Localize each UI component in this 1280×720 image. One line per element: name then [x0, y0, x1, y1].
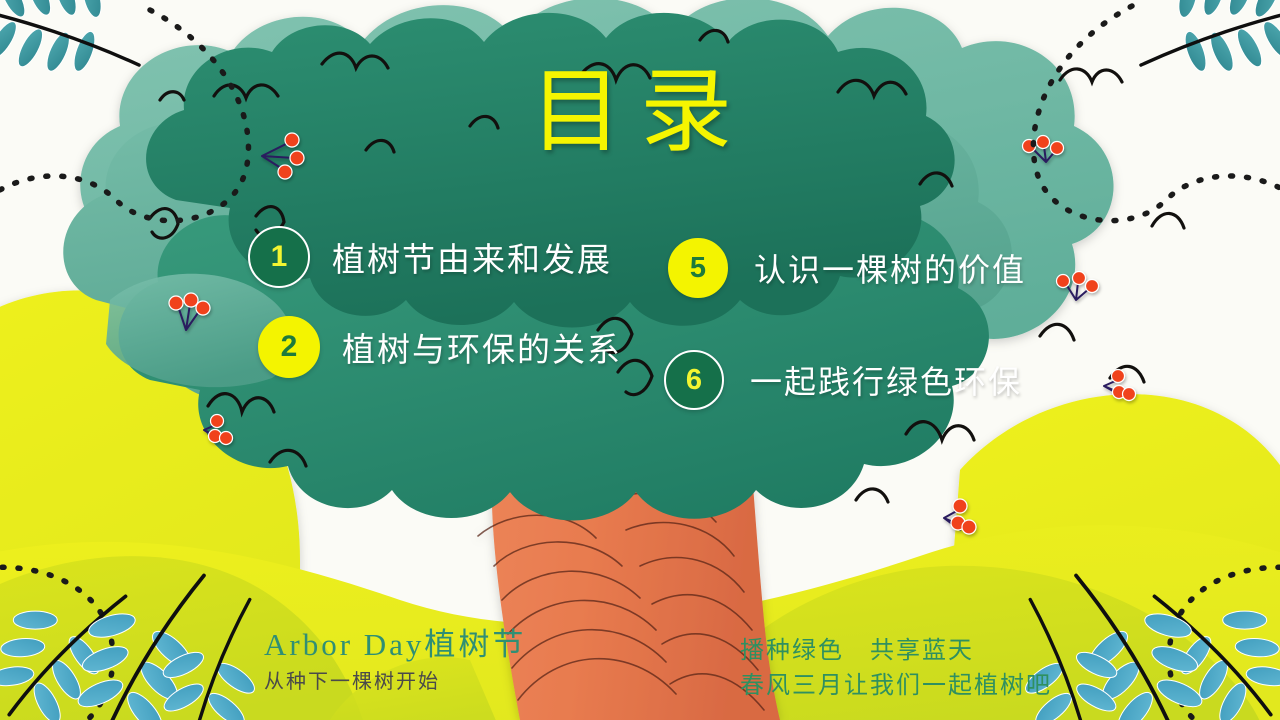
- toc-number-badge-1: 1: [248, 226, 310, 288]
- toc-item-6[interactable]: 6 一起践行绿色环保: [664, 350, 1022, 410]
- toc-label-1: 植树节由来和发展: [332, 233, 612, 281]
- toc-number-badge-2: 2: [258, 316, 320, 378]
- footer-left-block: Arbor Day植树节 从种下一棵树开始: [264, 628, 526, 694]
- toc-item-1[interactable]: 1 植树节由来和发展: [248, 226, 612, 288]
- toc-item-5[interactable]: 5 认识一棵树的价值: [668, 238, 1026, 298]
- footer-slogan-line-1: 播种绿色 共享蓝天: [740, 634, 1052, 669]
- toc-label-5: 认识一棵树的价值: [754, 245, 1026, 291]
- dashed-curve-group: [0, 6, 1280, 720]
- leaf-branch: [0, 550, 142, 720]
- toc-item-2[interactable]: 2 植树与环保的关系: [258, 316, 622, 378]
- footer-brand-subtitle: 从种下一棵树开始: [264, 665, 526, 694]
- corner-decorations: [0, 0, 1280, 720]
- leaf-branch: [1138, 550, 1280, 720]
- toc-number-badge-6: 6: [664, 350, 724, 410]
- slide-canvas: 目录 1 植树节由来和发展 2 植树与环保的关系 5 认识一棵树的价值 6 一起…: [0, 0, 1280, 720]
- leaf-branch: [1130, 0, 1280, 85]
- footer-right-block: 播种绿色 共享蓝天 春风三月让我们一起植树吧: [740, 634, 1052, 704]
- toc-label-2: 植树与环保的关系: [342, 323, 622, 371]
- leaf-branch: [0, 0, 150, 85]
- toc-label-6: 一起践行绿色环保: [750, 357, 1022, 403]
- footer-brand-title: Arbor Day植树节: [264, 628, 526, 663]
- footer-slogan-line-2: 春风三月让我们一起植树吧: [740, 669, 1052, 704]
- toc-number-badge-5: 5: [668, 238, 728, 298]
